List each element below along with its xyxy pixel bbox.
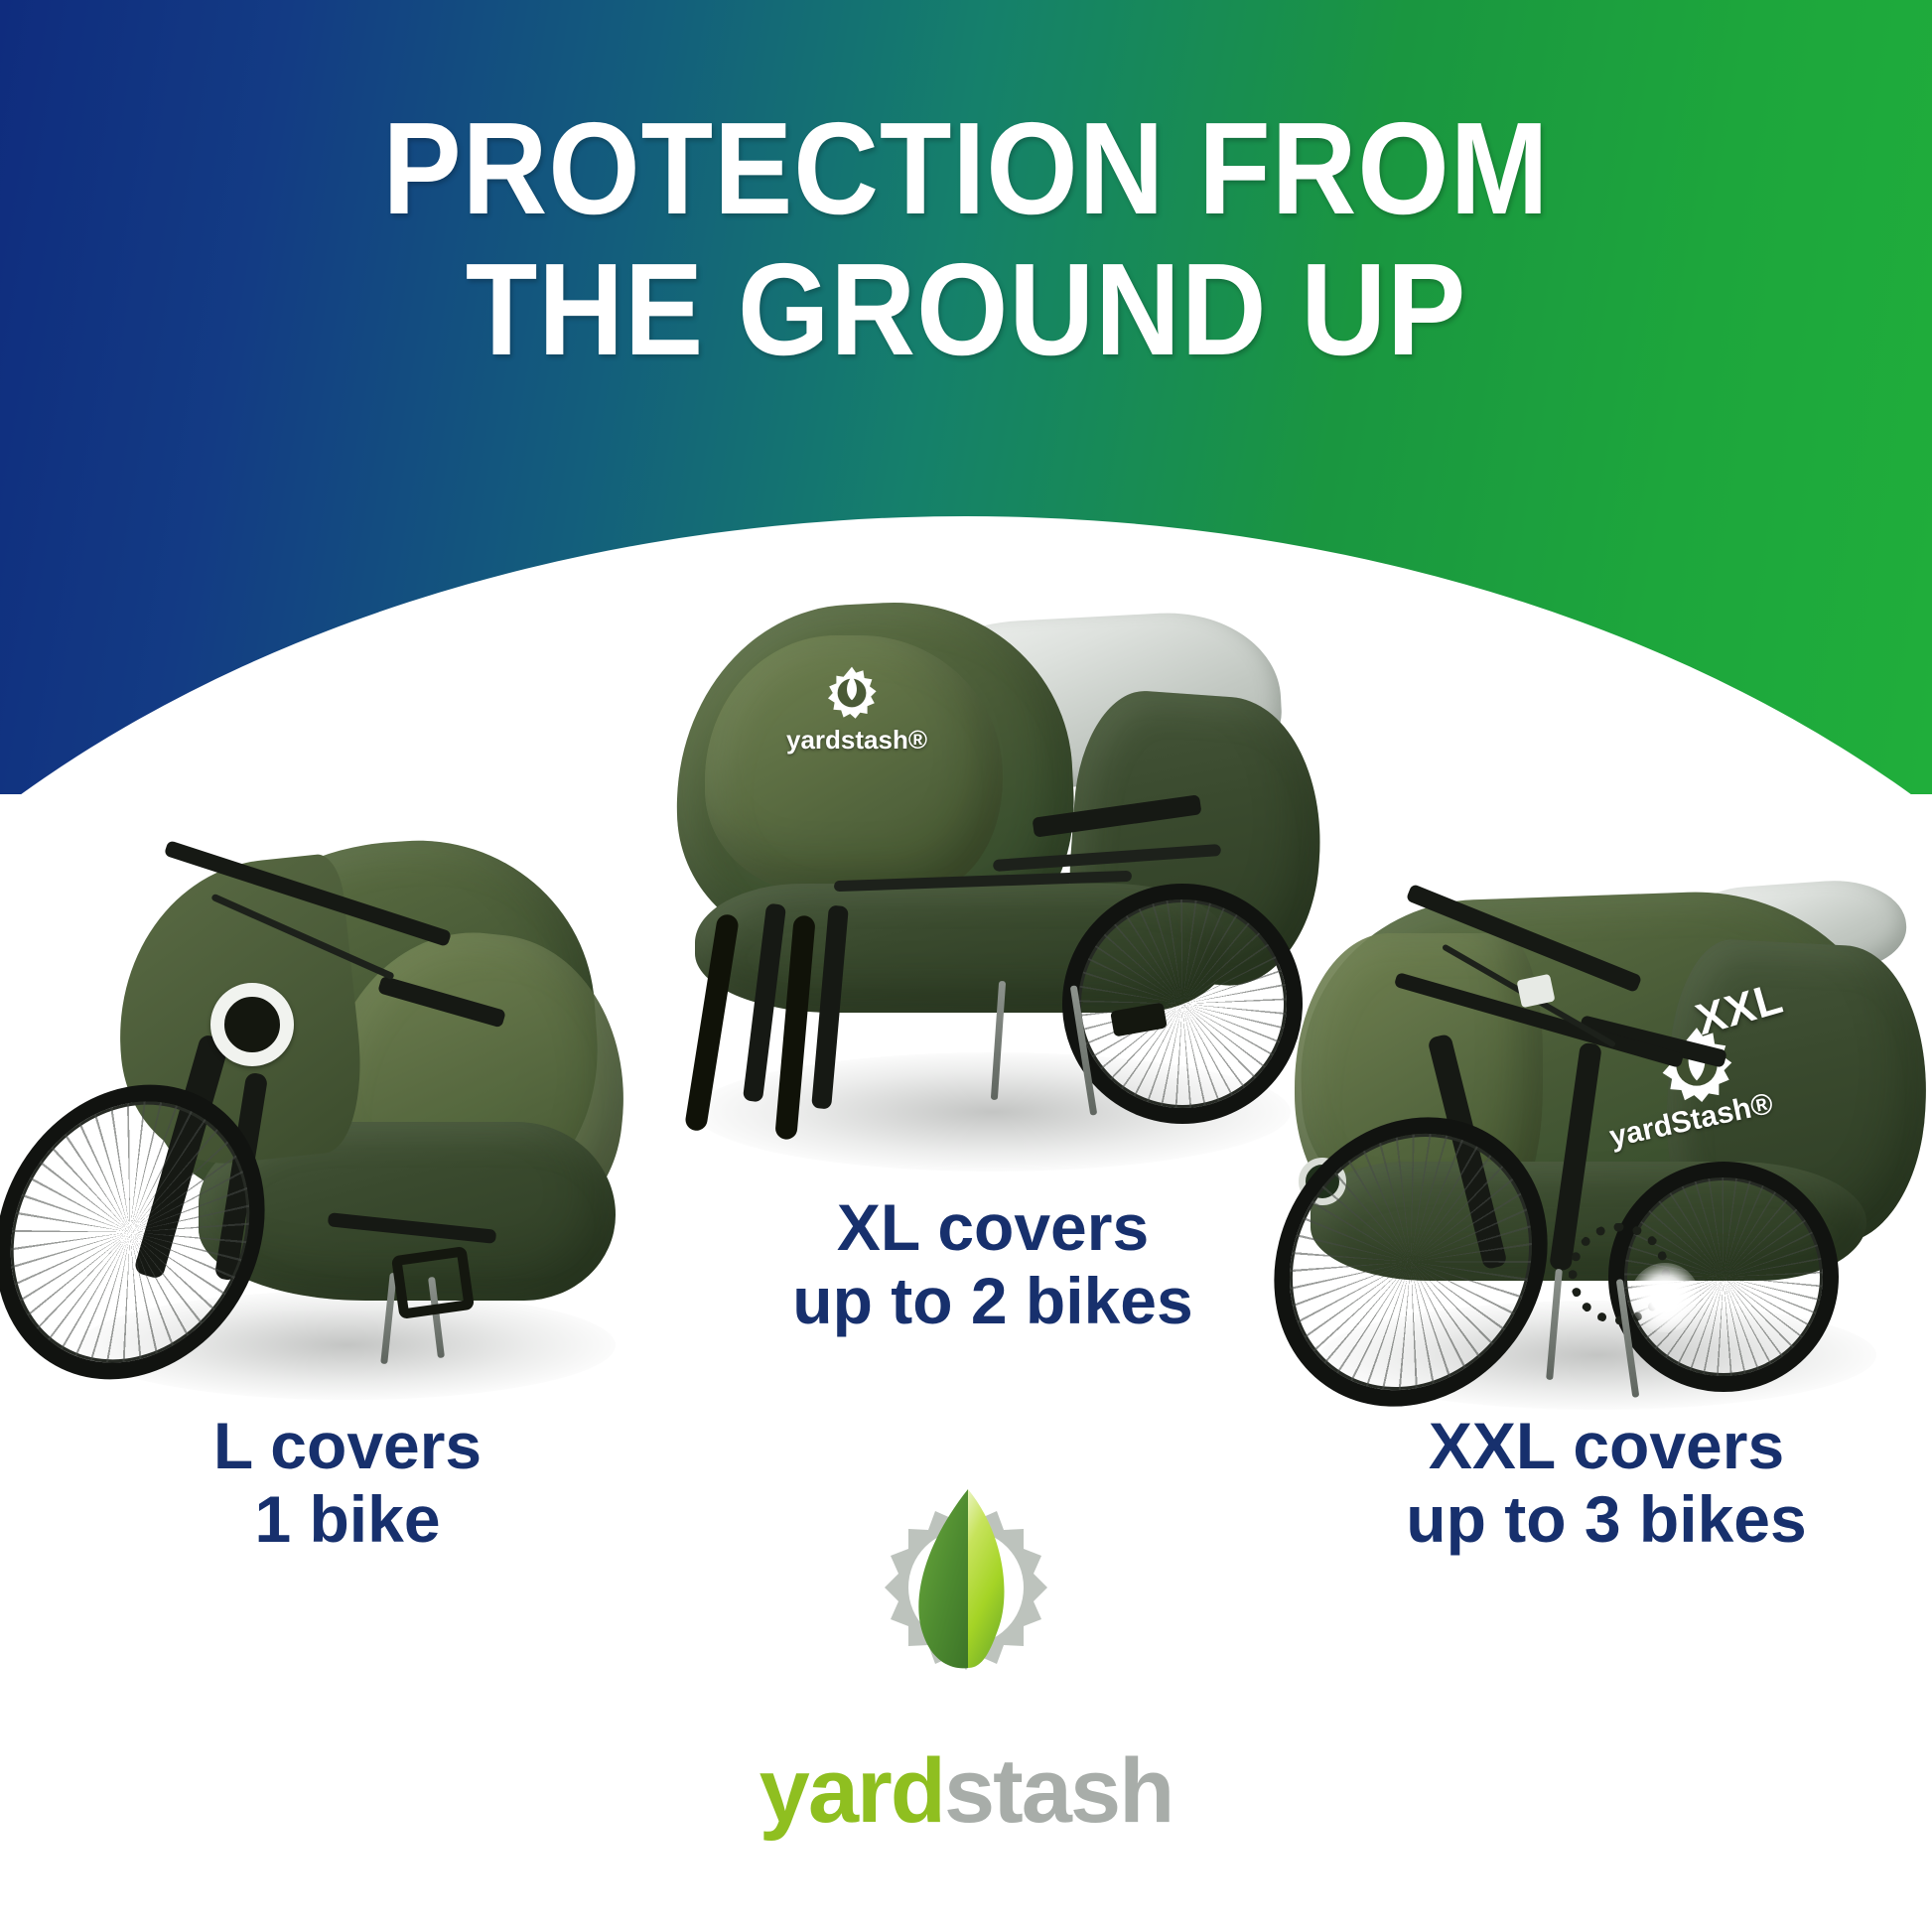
cover-buckle: [391, 1246, 475, 1319]
brand-logo: yardstash: [0, 1479, 1932, 1837]
cover-brand-print-label: yardstash®: [786, 725, 927, 756]
gear-leaf-logo-icon: [837, 1479, 1095, 1737]
caption-xl-line-1: XL covers: [635, 1191, 1350, 1265]
headline-line-1: PROTECTION FROM: [96, 103, 1835, 234]
wheel-spokes: [1078, 899, 1287, 1108]
caption-xl: XL covers up to 2 bikes: [635, 1191, 1350, 1338]
bike-rear-wheel: [1062, 884, 1303, 1124]
product-photo-xl: yardstash®: [635, 586, 1350, 1201]
caption-xxl-line-1: XXL covers: [1281, 1410, 1932, 1483]
page-title: PROTECTION FROM THE GROUND UP: [96, 103, 1835, 375]
poster: PROTECTION FROM THE GROUND UP: [0, 0, 1932, 1932]
gear-leaf-icon: [822, 663, 882, 723]
caption-xl-line-2: up to 2 bikes: [635, 1265, 1350, 1338]
bike-headlight: [1630, 1263, 1700, 1332]
caption-l-line-1: L covers: [0, 1410, 695, 1483]
bike-headset-ring: [210, 983, 294, 1066]
headline-line-2: THE GROUND UP: [96, 244, 1835, 375]
brand-wordmark: yardstash: [0, 1745, 1932, 1837]
brand-wordmark-stash: stash: [944, 1740, 1173, 1842]
gear-leaf-svg: [837, 1479, 1095, 1737]
product-photo-xxl: XXL yardStash®: [1281, 874, 1932, 1440]
brand-wordmark-yard: yard: [759, 1740, 944, 1842]
cover-brand-print-xl: yardstash®: [786, 663, 925, 753]
product-xl: yardstash® XL covers up to 2 bikes: [635, 586, 1350, 1459]
product-photo-l: [0, 824, 695, 1440]
